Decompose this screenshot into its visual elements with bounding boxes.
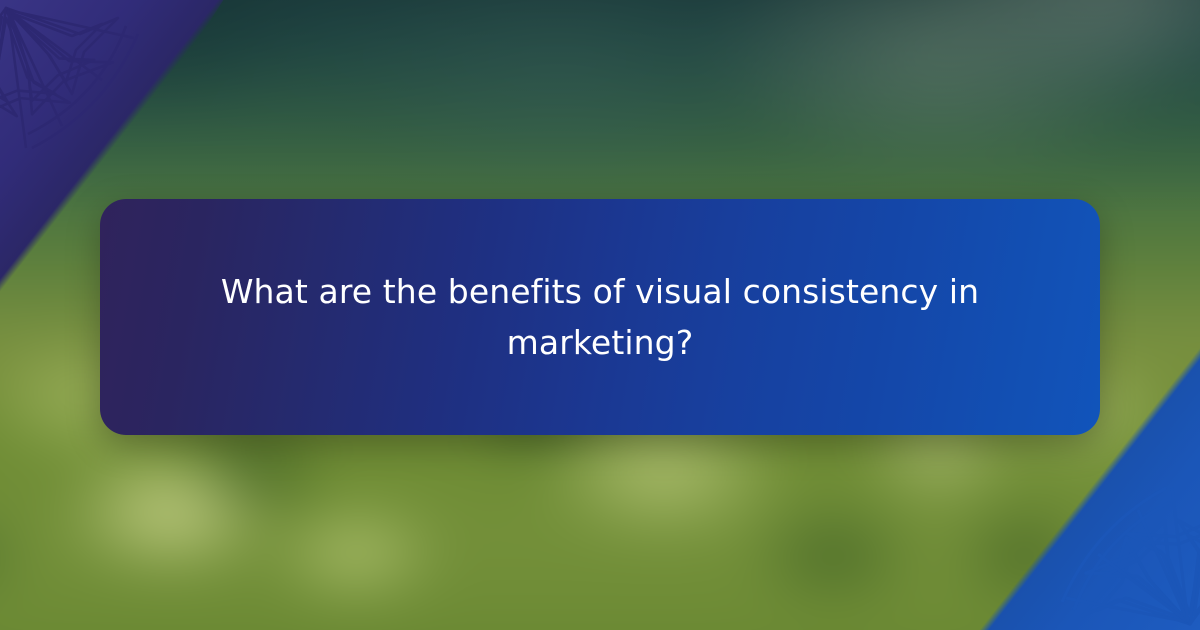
- quote-card: What are the benefits of visual consiste…: [100, 199, 1100, 435]
- poster-canvas: What are the benefits of visual consiste…: [0, 0, 1200, 630]
- quote-text: What are the benefits of visual consiste…: [180, 266, 1020, 368]
